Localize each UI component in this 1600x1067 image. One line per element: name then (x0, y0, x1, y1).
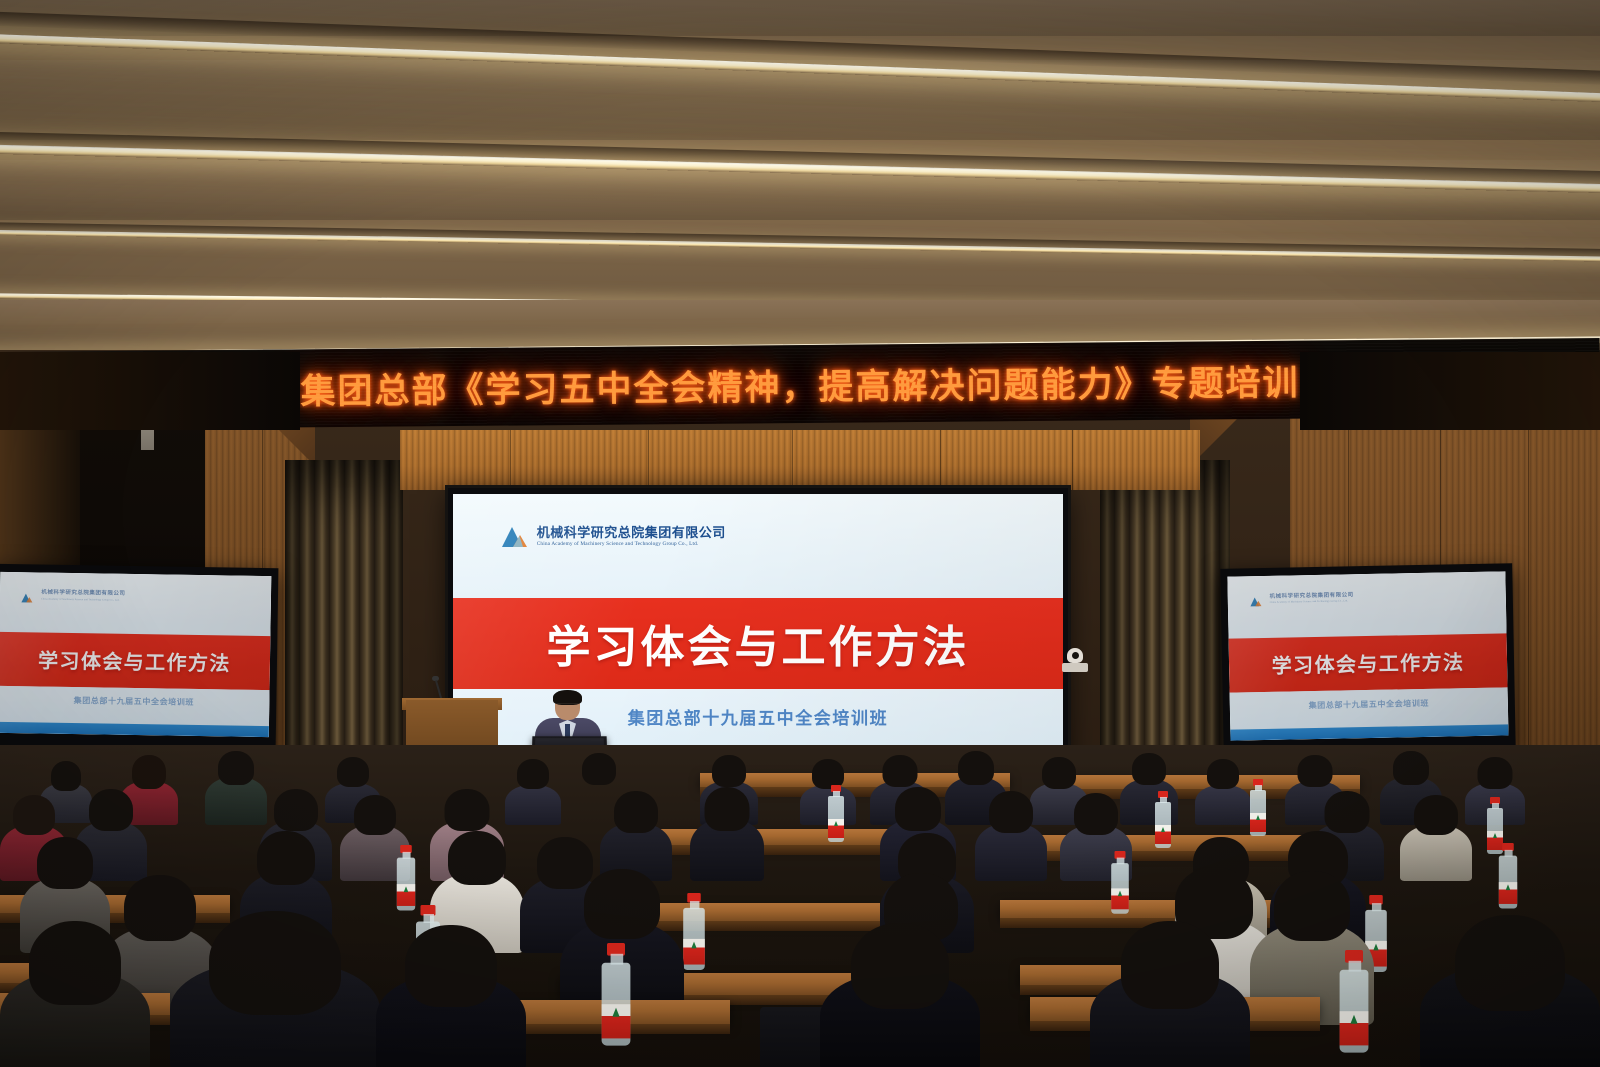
list-item (975, 791, 1047, 881)
mountain-triangle-logo-icon (499, 524, 530, 549)
monitor-slide-title: 学习体会与工作方法 (0, 632, 270, 689)
ptz-camera-icon (1062, 648, 1088, 672)
list-item (0, 921, 150, 1067)
slide-title: 学习体会与工作方法 (453, 598, 1063, 689)
mountain-triangle-logo-icon (1249, 594, 1263, 605)
led-banner-bezel-left (0, 352, 300, 430)
led-banner-bezel-right (1300, 352, 1600, 430)
list-item (1195, 759, 1251, 825)
monitor-slide-title: 学习体会与工作方法 (1229, 633, 1508, 692)
table-row (640, 829, 890, 845)
slide-company-name-cn: 机械科学研究总院集团有限公司 (537, 527, 726, 541)
list-item (1090, 921, 1250, 1067)
list-item (1420, 915, 1600, 1067)
wood-trim-above-screen (400, 430, 1200, 490)
list-item (170, 911, 380, 1067)
left-repeater-monitor: 机械科学研究总院集团有限公司 China Academy of Machiner… (0, 564, 278, 753)
list-item (1400, 795, 1472, 881)
conference-hall-photo: 集团总部《学习五中全会精神，提高解决问题能力》专题培训 (0, 0, 1600, 1067)
mountain-triangle-logo-icon (20, 590, 34, 601)
right-repeater-monitor: 机械科学研究总院集团有限公司 China Academy of Machiner… (1220, 563, 1516, 757)
list-item (376, 925, 526, 1067)
list-item (205, 751, 267, 825)
list-item (820, 923, 980, 1067)
list-item (600, 791, 672, 881)
list-item (690, 787, 764, 881)
monitor-company-name-en: China Academy of Machinery Science and T… (41, 598, 125, 602)
slide-company-name-en: China Academy of Machinery Science and T… (537, 541, 726, 547)
eyeglasses-icon (556, 703, 579, 707)
led-banner-text: 集团总部《学习五中全会精神，提高解决问题能力》专题培训 (300, 354, 1299, 414)
audience-seating-area (0, 745, 1600, 1067)
slide-brand-lockup: 机械科学研究总院集团有限公司 China Academy of Machiner… (499, 524, 726, 549)
list-item (505, 759, 561, 825)
